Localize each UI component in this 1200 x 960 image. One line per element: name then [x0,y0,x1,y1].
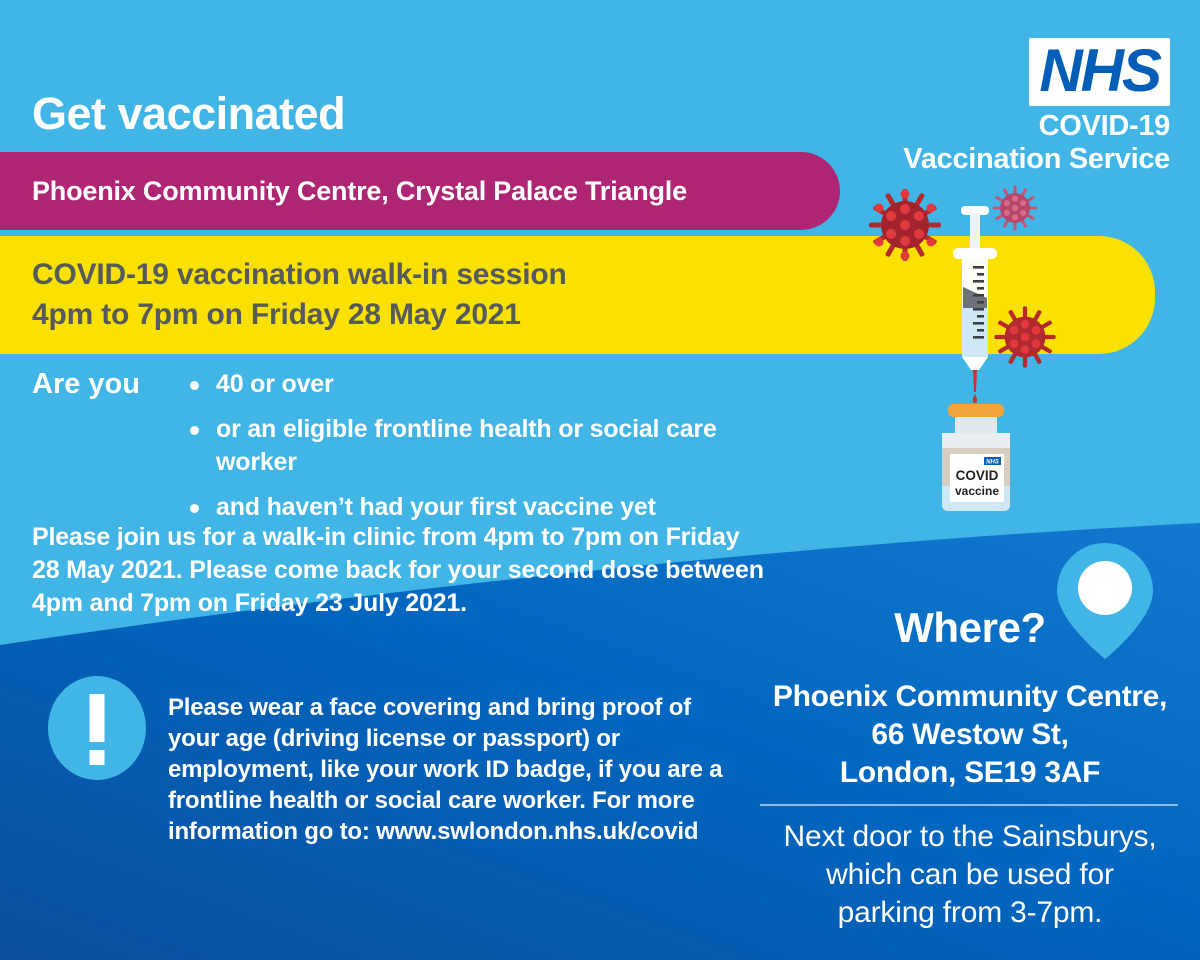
vaccine-illustration: NHS COVID vaccine [860,180,1090,520]
divider [760,804,1178,806]
svg-text:COVID: COVID [956,468,999,483]
address-line-1: Phoenix Community Centre, [745,678,1195,716]
list-item: and haven’t had your first vaccine yet [180,491,800,524]
advisory-text: Please wear a face covering and bring pr… [168,692,728,847]
page-title: Get vaccinated [32,88,345,140]
venue-banner-text: Phoenix Community Centre, Crystal Palace… [0,176,687,207]
poster: NHS COVID-19 Vaccination Service Get vac… [0,0,1200,960]
nhs-logo: NHS [1029,38,1170,106]
list-item: 40 or over [180,368,800,401]
virus-particle-icon [993,186,1038,231]
virus-particle-icon [869,189,941,261]
address-line-2: 66 Westow St, [745,716,1195,754]
venue-banner: Phoenix Community Centre, Crystal Palace… [0,152,840,230]
list-item: or an eligible frontline health or socia… [180,413,800,479]
where-address: Phoenix Community Centre, 66 Westow St, … [745,678,1195,792]
intro-paragraph: Please join us for a walk-in clinic from… [32,521,772,620]
eligibility-label: Are you [32,368,140,401]
service-line-1: COVID-19 [750,110,1170,143]
parking-line-1: Next door to the Sainsburys, [755,818,1185,856]
where-parking-note: Next door to the Sainsburys, which can b… [755,818,1185,932]
nhs-logo-text: NHS [1039,42,1160,100]
svg-text:vaccine: vaccine [955,484,999,498]
syringe-icon [953,206,997,403]
parking-line-3: parking from 3-7pm. [755,894,1185,932]
svg-text:NHS: NHS [986,460,999,466]
virus-particle-icon [994,306,1055,367]
address-line-3: London, SE19 3AF [745,754,1195,792]
where-heading: Where? [760,604,1180,652]
parking-line-2: which can be used for [755,856,1185,894]
eligibility-list: 40 or over or an eligible frontline heal… [180,368,800,536]
exclamation-icon [48,676,146,780]
vaccine-vial-icon: NHS COVID vaccine [942,404,1010,511]
